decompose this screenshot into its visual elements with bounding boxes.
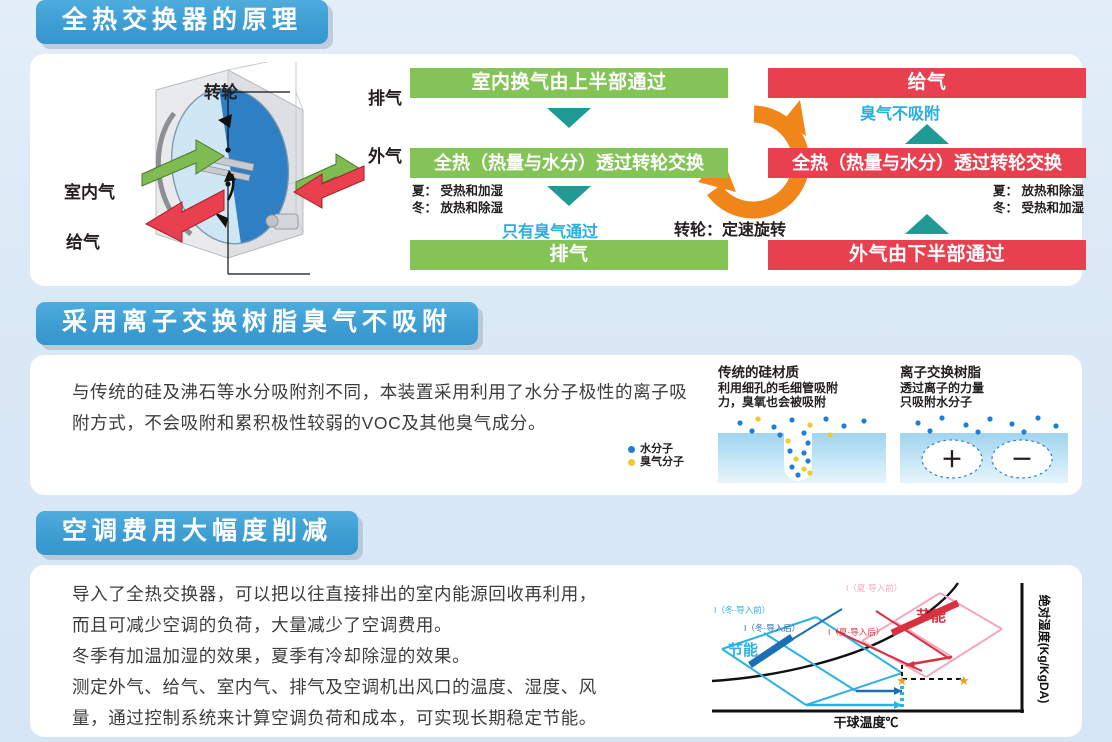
svg-text:I（冬·导入后）: I（冬·导入后） xyxy=(744,623,800,633)
flow-box-outdoor-bottom: 外气由下半部通过 xyxy=(768,240,1086,270)
illustration-silica-sub2: 力，臭氧也会被吸附 xyxy=(718,395,886,409)
section-header-ion-resin: 采用离子交换树脂臭气不吸附 xyxy=(36,302,1112,346)
svg-text:I（夏·导入后）: I（夏·导入后） xyxy=(828,627,884,637)
flow-box-outdoor-mid: 全热（热量与水分）透过转轮交换 xyxy=(768,148,1086,178)
odor-molecule-dot-icon xyxy=(628,459,635,466)
psychrometric-svg: ★ ★ I（冬·导入前） I（冬·导入后） I（夏·导入前） I（夏·导入后） … xyxy=(706,573,1066,729)
arrow-up-red-2 xyxy=(905,214,949,234)
section-title-principle: 全热交换器的原理 xyxy=(36,0,328,44)
psychrometric-chart: ★ ★ I（冬·导入前） I（冬·导入后） I（夏·导入前） I（夏·导入后） … xyxy=(706,573,1066,729)
section-header-cost-saving: 空调费用大幅度削减 xyxy=(36,511,1112,555)
ion-resin-paragraph: 与传统的硅及沸石等水分吸附剂不同，本装置采用利用了水分子极性的离子吸附方式，不会… xyxy=(72,377,692,439)
legend-item-odor: 臭气分子 xyxy=(628,456,684,469)
illustration-ion-sub2: 只吸附水分子 xyxy=(900,395,1068,409)
rotor-diagram: 转轮 排气 外气 室内气 给气 xyxy=(78,62,408,282)
note-odor-not-adsorbed: 臭气不吸附 xyxy=(860,100,940,124)
adsorption-illustrations: 传统的硅材质 利用细孔的毛细管吸附 力，臭氧也会被吸附 xyxy=(718,361,1068,487)
cost-line-3: 冬季有加温加湿的效果，夏季有冷却除湿的效果。 xyxy=(72,641,732,672)
note-outdoor-winter: 冬： 受热和加湿 xyxy=(993,201,1084,216)
flow-box-indoor-bottom: 排气 xyxy=(410,240,728,270)
legend-item-water: 水分子 xyxy=(628,443,684,456)
note-indoor-winter: 冬： 放热和除湿 xyxy=(412,201,503,216)
section-title-cost-saving: 空调费用大幅度削减 xyxy=(36,511,358,555)
note-indoor-summer: 夏： 受热和加湿 xyxy=(412,184,503,199)
molecule-legend: 水分子 臭气分子 xyxy=(628,443,684,469)
illustration-ion-title: 离子交换树脂 xyxy=(900,361,1068,381)
flow-box-outdoor-top: 给气 xyxy=(768,68,1086,98)
legend-label-odor: 臭气分子 xyxy=(640,456,684,469)
cost-line-1: 导入了全热交换器，可以把以往直接排出的室内能源回收再利用， xyxy=(72,579,732,610)
svg-text:节能: 节能 xyxy=(916,607,946,625)
svg-text:＋: ＋ xyxy=(941,447,963,472)
flow-column-indoor: 室内换气由上半部通过 全热（热量与水分）透过转轮交换 夏： 受热和加湿 冬： 放… xyxy=(410,68,728,276)
flow-box-indoor-mid: 全热（热量与水分）透过转轮交换 xyxy=(410,148,728,178)
ion-resin-panel: 与传统的硅及沸石等水分吸附剂不同，本装置采用利用了水分子极性的离子吸附方式，不会… xyxy=(30,355,1082,495)
legend-label-water: 水分子 xyxy=(640,443,673,456)
cost-line-4: 测定外气、给气、室内气、排气及空调机出风口的温度、湿度、风 xyxy=(72,672,732,703)
section-header-principle: 全热交换器的原理 xyxy=(36,0,1112,44)
illustration-silica-title: 传统的硅材质 xyxy=(718,361,886,381)
label-exhaust: 排气 xyxy=(368,84,402,109)
svg-text:★: ★ xyxy=(958,673,970,688)
illustration-silica: 传统的硅材质 利用细孔的毛细管吸附 力，臭氧也会被吸附 xyxy=(718,361,886,483)
principle-panel: 转轮 排气 外气 室内气 给气 室内换气由上半部通过 全热（热量与水分）透过转轮… xyxy=(30,54,1082,286)
svg-text:－: － xyxy=(1011,447,1033,472)
svg-text:节能: 节能 xyxy=(728,641,758,659)
arrow-down-green-2 xyxy=(547,186,591,206)
note-rotor-speed: 转轮：定速旋转 xyxy=(674,216,786,240)
arrow-down-green-1 xyxy=(547,108,591,128)
ion-resin-svg: ＋ － xyxy=(900,411,1068,483)
illustration-silica-sub1: 利用细孔的毛细管吸附 xyxy=(718,381,886,395)
flow-box-indoor-top: 室内换气由上半部通过 xyxy=(410,68,728,98)
note-outdoor-summer: 夏： 放热和除湿 xyxy=(993,184,1084,199)
label-rotor: 转轮 xyxy=(204,78,238,103)
cost-line-2: 而且可减少空调的负荷，大量减少了空调费用。 xyxy=(72,610,732,641)
svg-text:I（冬·导入前）: I（冬·导入前） xyxy=(714,605,770,615)
note-odor-pass: 只有臭气通过 xyxy=(502,218,598,242)
cost-saving-panel: 导入了全热交换器，可以把以往直接排出的室内能源回收再利用， 而且可减少空调的负荷… xyxy=(30,565,1082,737)
arrow-up-red-1 xyxy=(905,124,949,144)
illustration-ion-resin: 离子交换树脂 透过离子的力量 只吸附水分子 ＋ － xyxy=(900,361,1068,483)
flow-column-outdoor: 给气 臭气不吸附 全热（热量与水分）透过转轮交换 夏： 放热和除湿 冬： 受热和… xyxy=(768,68,1086,276)
cost-saving-paragraph: 导入了全热交换器，可以把以往直接排出的室内能源回收再利用， 而且可减少空调的负荷… xyxy=(72,579,732,734)
label-supply-air: 给气 xyxy=(66,228,100,253)
chart-xlabel: 干球温度℃ xyxy=(833,715,898,729)
cost-line-5: 量，通过控制系统来计算空调负荷和成本，可实现长期稳定节能。 xyxy=(72,703,732,734)
rotor-svg xyxy=(78,62,408,282)
section-title-ion-resin: 采用离子交换树脂臭气不吸附 xyxy=(36,302,478,346)
illustration-ion-sub1: 透过离子的力量 xyxy=(900,381,1068,395)
chart-ylabel: 绝对湿度(Kg/KgDA) xyxy=(1037,594,1052,703)
label-indoor-air: 室内气 xyxy=(64,178,115,203)
svg-text:★: ★ xyxy=(896,673,908,688)
silica-pore-svg xyxy=(718,411,886,483)
flow-diagram: 室内换气由上半部通过 全热（热量与水分）透过转轮交换 夏： 受热和加湿 冬： 放… xyxy=(410,68,1068,276)
svg-text:I（夏·导入前）: I（夏·导入前） xyxy=(846,583,902,593)
label-outside-air: 外气 xyxy=(368,142,402,167)
water-molecule-dot-icon xyxy=(628,446,635,453)
